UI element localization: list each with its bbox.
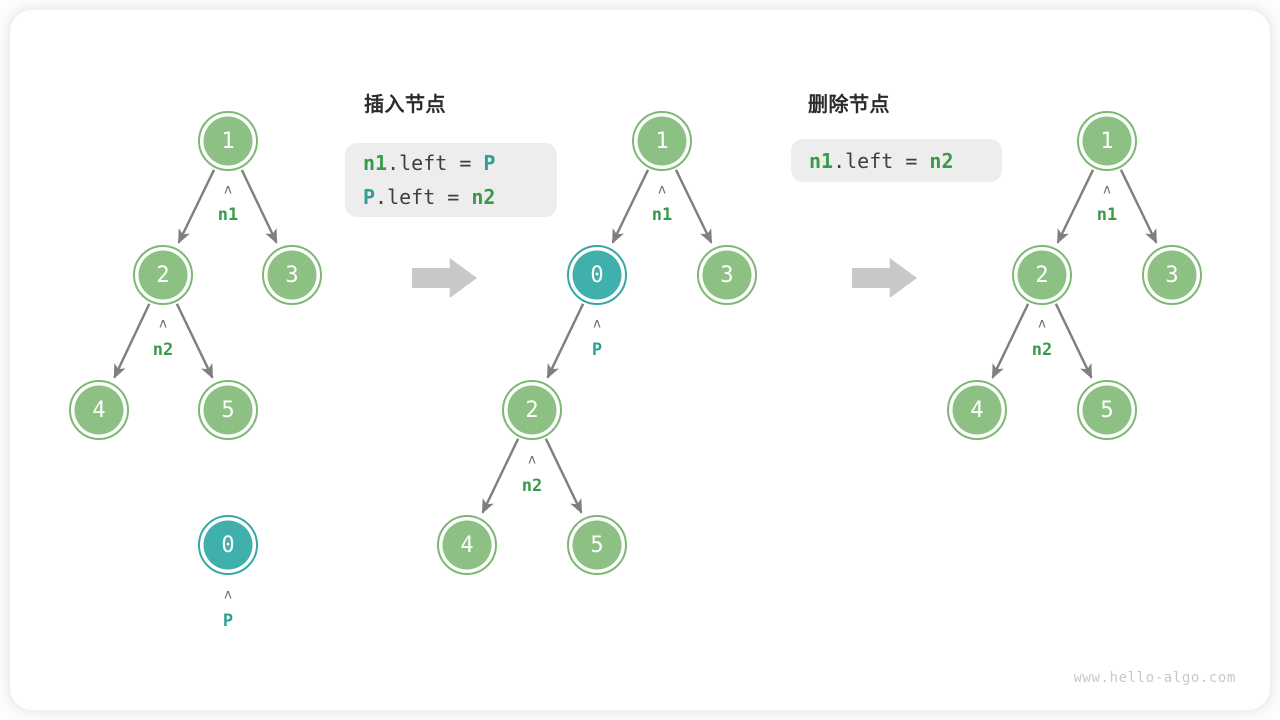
code-line: P.left = n2 xyxy=(363,180,539,214)
pointer-label-text: n1 xyxy=(1097,205,1117,225)
diagram-root: 12345010324512345ʌn1ʌn2ʌPʌn1ʌPʌn2ʌn1ʌn2 … xyxy=(0,0,1280,720)
code-line: n1.left = P xyxy=(363,146,539,180)
tree-node-2: 2 xyxy=(134,246,192,304)
caret-icon: ʌ xyxy=(224,183,232,198)
pointer-label-text: P xyxy=(592,340,602,360)
tree-node-1: 1 xyxy=(199,112,257,170)
pointer-label-text: P xyxy=(223,611,233,631)
tree-node-0: 0 xyxy=(568,246,626,304)
pointer-p: ʌP xyxy=(592,317,602,361)
tree-node-value: 0 xyxy=(590,263,603,288)
code-box-insert: n1.left = PP.left = n2 xyxy=(345,143,557,217)
panel-title-delete: 删除节点 xyxy=(808,88,890,117)
code-token: P xyxy=(363,185,375,209)
tree-node-5: 5 xyxy=(1078,381,1136,439)
tree-node-2: 2 xyxy=(1013,246,1071,304)
caret-icon: ʌ xyxy=(593,317,601,332)
tree-node-value: 3 xyxy=(1165,263,1178,288)
pointer-n1: ʌn1 xyxy=(652,183,672,226)
code-box-delete: n1.left = n2 xyxy=(791,139,1002,182)
flow-arrow-1 xyxy=(412,258,477,298)
pointer-n1: ʌn1 xyxy=(1097,183,1117,226)
tree-node-value: 3 xyxy=(285,263,298,288)
tree-node-value: 4 xyxy=(970,398,983,423)
tree-node-0: 0 xyxy=(199,516,257,574)
pointer-n1: ʌn1 xyxy=(218,183,238,226)
tree-node-value: 1 xyxy=(655,129,668,154)
diagram-card: 12345010324512345ʌn1ʌn2ʌPʌn1ʌPʌn2ʌn1ʌn2 … xyxy=(10,10,1270,710)
tree-node-1: 1 xyxy=(1078,112,1136,170)
tree-edge xyxy=(613,170,648,243)
watermark-text: www.hello-algo.com xyxy=(1073,670,1236,686)
code-token: P xyxy=(483,151,495,175)
pointer-label-text: n2 xyxy=(522,476,542,496)
tree-edge xyxy=(242,170,277,243)
tree-node-3: 3 xyxy=(1143,246,1201,304)
caret-icon: ʌ xyxy=(1103,183,1111,198)
code-token: .left = xyxy=(375,185,471,209)
tree-edge xyxy=(676,170,711,243)
tree-node-value: 5 xyxy=(590,533,603,558)
tree-edge xyxy=(177,304,213,378)
edge-layer xyxy=(114,170,1156,513)
pointer-n2: ʌn2 xyxy=(1032,317,1052,361)
tree-node-value: 4 xyxy=(92,398,105,423)
tree-node-value: 1 xyxy=(1100,129,1113,154)
code-token: .left = xyxy=(387,151,483,175)
tree-node-5: 5 xyxy=(568,516,626,574)
tree-edge xyxy=(179,170,214,243)
tree-node-value: 1 xyxy=(221,129,234,154)
code-token: n2 xyxy=(471,185,495,209)
caret-icon: ʌ xyxy=(224,588,232,603)
code-line: n1.left = n2 xyxy=(809,144,984,178)
caret-icon: ʌ xyxy=(1038,317,1046,332)
tree-node-2: 2 xyxy=(503,381,561,439)
tree-edge xyxy=(993,304,1029,378)
pointer-n2: ʌn2 xyxy=(153,317,173,361)
panel-title-insert: 插入节点 xyxy=(364,88,446,117)
code-token: n1 xyxy=(809,149,833,173)
caret-icon: ʌ xyxy=(528,453,536,468)
tree-edge xyxy=(1056,304,1092,378)
code-token: n2 xyxy=(929,149,953,173)
pointer-label-text: n1 xyxy=(218,205,238,225)
code-token: .left = xyxy=(833,149,929,173)
tree-edge xyxy=(483,439,519,513)
pointer-label-text: n2 xyxy=(153,340,173,360)
tree-edge xyxy=(546,439,582,513)
caret-icon: ʌ xyxy=(159,317,167,332)
tree-node-value: 2 xyxy=(156,263,169,288)
tree-node-3: 3 xyxy=(698,246,756,304)
tree-node-value: 0 xyxy=(221,533,234,558)
pointer-p: ʌP xyxy=(223,588,233,632)
tree-node-value: 5 xyxy=(221,398,234,423)
pointer-label-text: n2 xyxy=(1032,340,1052,360)
tree-node-value: 5 xyxy=(1100,398,1113,423)
tree-node-value: 2 xyxy=(525,398,538,423)
tree-node-3: 3 xyxy=(263,246,321,304)
tree-node-5: 5 xyxy=(199,381,257,439)
code-token: n1 xyxy=(363,151,387,175)
tree-node-value: 2 xyxy=(1035,263,1048,288)
tree-node-value: 3 xyxy=(720,263,733,288)
tree-node-4: 4 xyxy=(948,381,1006,439)
pointer-label-text: n1 xyxy=(652,205,672,225)
tree-edge xyxy=(1121,170,1156,243)
tree-edge xyxy=(114,304,149,378)
tree-node-1: 1 xyxy=(633,112,691,170)
caret-icon: ʌ xyxy=(658,183,666,198)
tree-node-4: 4 xyxy=(438,516,496,574)
tree-edge xyxy=(548,304,584,378)
tree-edge xyxy=(1058,170,1093,243)
flow-arrow-2 xyxy=(852,258,917,298)
tree-node-value: 4 xyxy=(460,533,473,558)
tree-diagram-svg: 12345010324512345ʌn1ʌn2ʌPʌn1ʌPʌn2ʌn1ʌn2 xyxy=(10,10,1270,710)
pointer-n2: ʌn2 xyxy=(522,453,542,497)
tree-node-4: 4 xyxy=(70,381,128,439)
